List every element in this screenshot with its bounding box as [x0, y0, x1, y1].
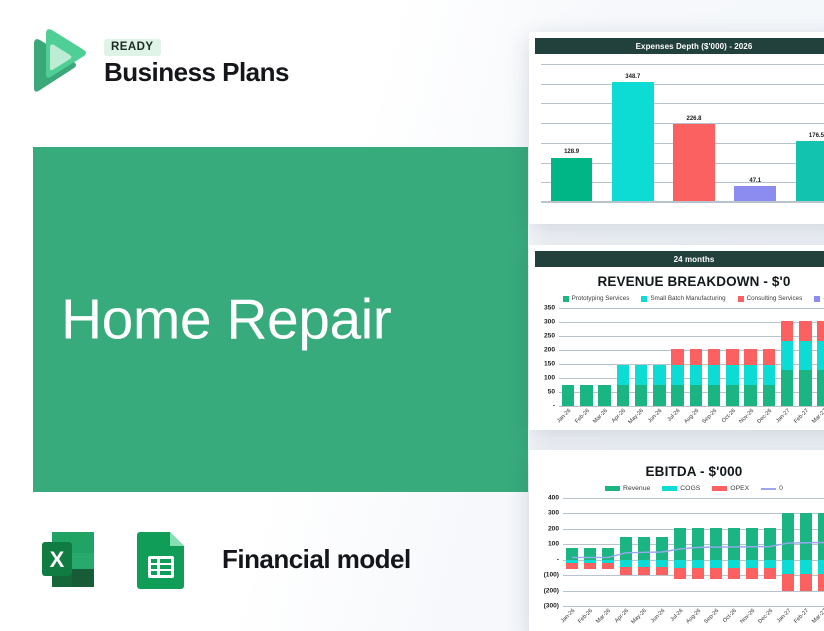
y-axis-tick-label: 250 [544, 333, 555, 340]
revenue-x-axis-labels: Jan-26Feb-26Mar-26Apr-26May-26Jun-26Jul-… [559, 406, 824, 430]
legend-item[interactable]: 0 [761, 485, 783, 492]
stack-segment [653, 365, 665, 385]
stacked-bar[interactable] [708, 349, 720, 406]
stacked-bar[interactable] [744, 349, 756, 406]
stacked-bar[interactable] [690, 349, 702, 406]
legend-item[interactable]: Small Batch Manufacturing [641, 295, 725, 302]
bar[interactable] [551, 158, 593, 202]
y-axis-tick-label: (200) [544, 587, 559, 594]
legend-item[interactable]: COGS [662, 485, 700, 492]
stacked-bar[interactable] [726, 349, 738, 406]
stacked-bar[interactable] [781, 321, 793, 406]
revenue-plot-area: 35030025020015010050- [559, 308, 824, 406]
stacked-bar[interactable] [598, 385, 610, 406]
stack-segment [817, 370, 824, 406]
stack-segment [671, 385, 683, 406]
expenses-bars: 128.9348.7226.847.1176.5 [541, 64, 824, 202]
legend-item[interactable]: Consulting Services [738, 295, 803, 302]
stack-segment [744, 365, 756, 385]
y-axis-tick-label: 100 [544, 375, 555, 382]
revenue-chart-title: REVENUE BREAKDOWN - $'0 [529, 274, 824, 289]
stack-segment [726, 385, 738, 406]
stacked-bar[interactable] [653, 365, 665, 406]
expenses-axis-line [541, 201, 824, 202]
x-axis-tick-label: Jan-26 [560, 608, 576, 624]
x-axis-tick-label: Feb-27 [793, 408, 810, 425]
legend-swatch-icon [563, 296, 569, 302]
bar-value-label: 176.5 [809, 133, 824, 139]
legend-swatch-icon [814, 296, 820, 302]
x-axis-tick-label: Jun-26 [650, 608, 666, 624]
stacked-bar[interactable] [799, 321, 811, 406]
bar-slot: 226.8 [663, 64, 724, 202]
stack-segment [617, 385, 629, 406]
y-axis-tick-label: 350 [544, 305, 555, 312]
stack-segment [708, 385, 720, 406]
title-banner: Home Repair [33, 147, 528, 492]
expenses-chart-title: Expenses Depth ($'000) - 2026 [535, 38, 824, 54]
stacked-bar[interactable] [763, 349, 775, 406]
stack-segment [763, 365, 775, 385]
legend-item[interactable]: - [814, 295, 824, 302]
legend-label: OPEX [730, 485, 749, 492]
ebitda-legend: RevenueCOGSOPEX0 [529, 485, 824, 492]
brand-logo-block: READY Business Plans [28, 28, 289, 94]
legend-label: Revenue [623, 485, 650, 492]
revenue-period-strip: 24 months [535, 251, 824, 267]
brand-text: READY Business Plans [104, 35, 289, 86]
bar[interactable] [612, 82, 654, 202]
bar-slot: 176.5 [786, 64, 824, 202]
bar-slot [614, 308, 632, 406]
ebitda-plot-area: 400300200100-(100)(200)(300) [563, 498, 824, 606]
x-axis-tick-label: Jan-27 [775, 408, 791, 424]
legend-swatch-icon [641, 296, 647, 302]
stacked-bar[interactable] [562, 385, 574, 406]
x-tick: Jul-26 [669, 406, 687, 430]
x-tick: Jan-26 [559, 406, 577, 430]
bar-slot [778, 308, 796, 406]
legend-label: 0 [779, 485, 783, 492]
stack-segment [744, 349, 756, 366]
bar-value-label: 128.9 [564, 149, 579, 155]
ebitda-chart-title: EBITDA - $'000 [529, 464, 824, 479]
y-axis-tick-label: (100) [544, 572, 559, 579]
y-axis-tick-label: 300 [544, 319, 555, 326]
stack-segment [799, 321, 811, 341]
stack-segment [708, 349, 720, 366]
x-tick: Nov-26 [742, 406, 760, 430]
x-axis-tick-label: Apr-26 [611, 408, 627, 424]
stack-segment [690, 385, 702, 406]
x-axis-tick-label: Apr-26 [614, 608, 630, 624]
bar-slot [687, 308, 705, 406]
legend-label: Consulting Services [747, 295, 803, 302]
google-sheets-icon [122, 520, 200, 598]
y-axis-tick-label: 50 [548, 389, 555, 396]
stack-segment [763, 385, 775, 406]
brand-name: Business Plans [104, 58, 289, 86]
x-axis-tick-label: Jan-27 [776, 608, 792, 624]
bar-slot [650, 308, 668, 406]
play-triangle-logo-icon [28, 28, 90, 94]
bar-slot [632, 308, 650, 406]
bar-slot [705, 308, 723, 406]
stack-segment [744, 385, 756, 406]
stacked-bar[interactable] [671, 349, 683, 406]
bar[interactable] [734, 186, 776, 202]
expenses-plot-area: 128.9348.7226.847.1176.5 [541, 64, 824, 202]
legend-swatch-icon [662, 486, 677, 491]
bar-slot [723, 308, 741, 406]
y-axis-tick-label: - [553, 403, 555, 410]
legend-item[interactable]: Prototyping Services [563, 295, 630, 302]
x-axis-tick-label: Mar-26 [592, 408, 609, 425]
financial-model-footer: X Financial model [30, 520, 411, 598]
y-axis-tick-label: - [557, 556, 559, 563]
x-tick: Jan-27 [778, 406, 796, 430]
stack-segment [817, 321, 824, 341]
stack-segment [817, 341, 824, 370]
bar-slot: 47.1 [725, 64, 786, 202]
bar[interactable] [796, 141, 824, 202]
stacked-bar[interactable] [617, 365, 629, 406]
ebitda-zero-line-series [563, 498, 824, 606]
bar-slot [815, 308, 824, 406]
legend-swatch-icon [605, 486, 620, 491]
chart-card-expenses[interactable]: Expenses Depth ($'000) - 2026 128.9348.7… [529, 32, 824, 224]
legend-label: COGS [680, 485, 700, 492]
stack-segment [726, 365, 738, 385]
stack-segment [671, 349, 683, 366]
stack-segment [781, 341, 793, 370]
footer-label: Financial model [222, 544, 411, 575]
x-tick: Oct-26 [723, 406, 741, 430]
y-axis-tick-label: (300) [544, 603, 559, 610]
bar-slot [577, 308, 595, 406]
legend-swatch-icon [712, 486, 727, 491]
stack-segment [690, 365, 702, 385]
bar[interactable] [673, 124, 715, 202]
chart-card-ebitda[interactable]: EBITDA - $'000 RevenueCOGSOPEX0 40030020… [529, 450, 824, 631]
stacked-bar[interactable] [580, 385, 592, 406]
x-axis-tick-label: Feb-26 [574, 408, 591, 425]
stack-segment [562, 385, 574, 406]
legend-item[interactable]: OPEX [712, 485, 749, 492]
stacked-bar[interactable] [635, 365, 647, 406]
bar-value-label: 226.8 [686, 116, 701, 122]
bar-slot [760, 308, 778, 406]
x-axis-tick-label: Jan-26 [556, 408, 572, 424]
bar-slot [742, 308, 760, 406]
microsoft-excel-icon: X [30, 520, 108, 598]
legend-item[interactable]: Revenue [605, 485, 650, 492]
ready-badge: READY [104, 39, 161, 56]
stacked-bar[interactable] [817, 321, 824, 406]
chart-card-revenue-breakdown[interactable]: 24 months REVENUE BREAKDOWN - $'0 Protot… [529, 245, 824, 430]
stack-segment [763, 349, 775, 366]
stack-segment [580, 385, 592, 406]
legend-label: Prototyping Services [572, 295, 630, 302]
legend-swatch-icon [761, 488, 776, 490]
x-axis-tick-label: Oct-26 [720, 408, 736, 424]
x-axis-tick-label: Jun-26 [647, 408, 663, 424]
revenue-legend: Prototyping ServicesSmall Batch Manufact… [529, 295, 824, 302]
x-tick: Sep-26 [705, 406, 723, 430]
x-tick: Mar-27 [815, 606, 824, 631]
x-axis-tick-label: Jul-26 [669, 608, 684, 623]
stack-segment [799, 341, 811, 370]
y-axis-tick-label: 200 [544, 347, 555, 354]
y-axis-tick-label: 200 [548, 525, 559, 532]
gridline [541, 202, 824, 203]
bar-slot: 128.9 [541, 64, 602, 202]
bar-slot [669, 308, 687, 406]
stack-segment [635, 385, 647, 406]
ebitda-x-axis-labels: Jan-26Feb-26Mar-26Apr-26May-26Jun-26Jul-… [563, 606, 824, 631]
legend-swatch-icon [738, 296, 744, 302]
stack-segment [781, 370, 793, 406]
bar-slot [796, 308, 814, 406]
svg-text:X: X [50, 547, 65, 572]
x-axis-tick-label: Jul-26 [667, 408, 682, 423]
bar-value-label: 47.1 [749, 178, 761, 184]
bar-value-label: 348.7 [625, 74, 640, 80]
bar-slot: 348.7 [602, 64, 663, 202]
stack-segment [726, 349, 738, 366]
slide-canvas: READY Business Plans Home Repair X [0, 0, 824, 631]
bar-slot [596, 308, 614, 406]
stack-segment [617, 365, 629, 385]
stack-segment [671, 365, 683, 385]
x-axis-tick-label: Oct-26 [722, 608, 738, 624]
stack-segment [690, 349, 702, 366]
stack-segment [653, 385, 665, 406]
y-axis-tick-label: 100 [548, 541, 559, 548]
legend-label: Small Batch Manufacturing [650, 295, 725, 302]
y-axis-tick-label: 400 [548, 495, 559, 502]
stack-segment [799, 370, 811, 406]
stack-segment [635, 365, 647, 385]
page-title: Home Repair [61, 291, 391, 348]
stack-segment [708, 365, 720, 385]
y-axis-tick-label: 300 [548, 510, 559, 517]
stack-segment [598, 385, 610, 406]
revenue-bars [559, 308, 824, 406]
y-axis-tick-label: 150 [544, 361, 555, 368]
bar-slot [559, 308, 577, 406]
stack-segment [781, 321, 793, 341]
x-tick: Mar-27 [815, 406, 824, 430]
